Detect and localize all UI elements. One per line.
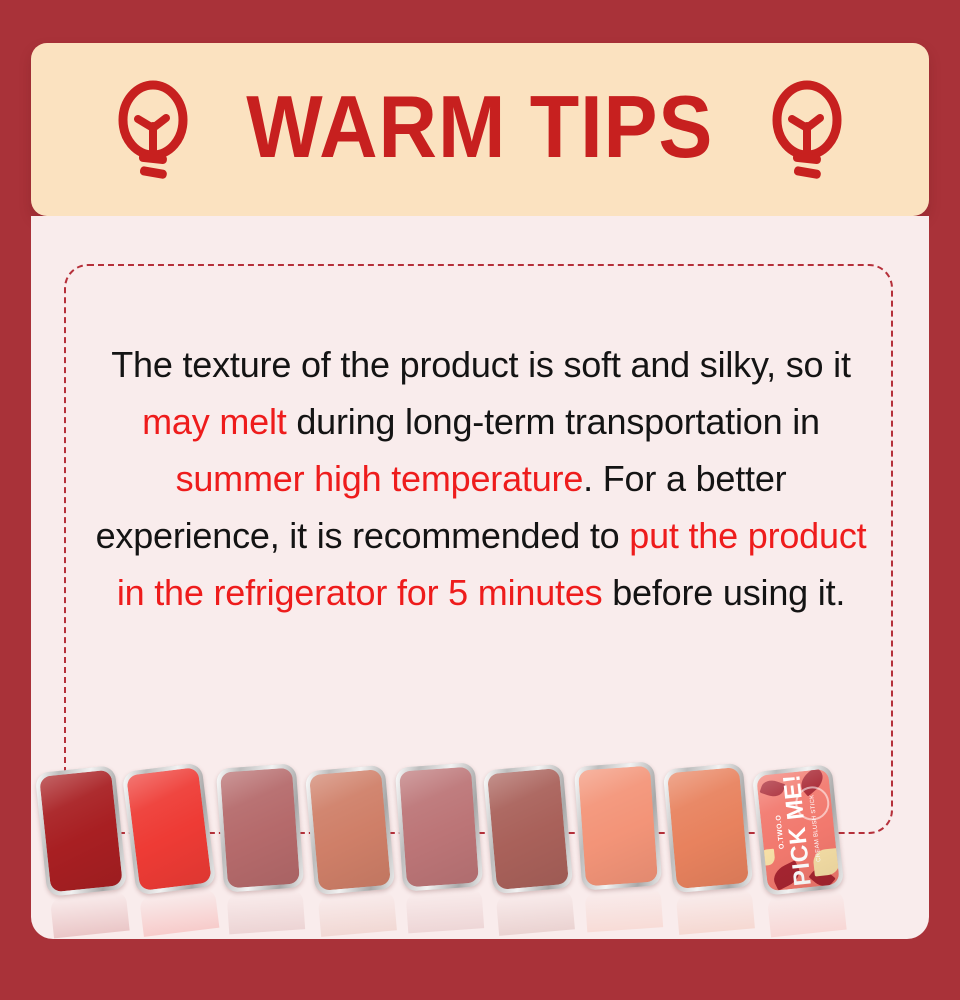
tip-highlight: summer high temperature (176, 458, 584, 499)
shade-swatch-row: O.TWO.OPICK ME!CREAM BLUSH STICK (31, 761, 929, 939)
swatch-shade-8[interactable] (663, 763, 754, 894)
pan-product (220, 768, 300, 889)
page-title: WARM TIPS (246, 83, 713, 177)
lightbulb-icon-right (770, 78, 844, 182)
tip-highlight: may melt (142, 401, 286, 442)
pan-product (126, 767, 212, 891)
pan-sheen (309, 769, 391, 891)
pan-sheen (220, 768, 300, 889)
pan-reflection (406, 888, 485, 933)
swatch-shade-2[interactable] (122, 763, 217, 896)
warm-tips-banner: WARM TIPS The texture of the product is … (0, 0, 960, 1000)
pan-reflection (767, 890, 847, 938)
pan-product (487, 768, 569, 890)
swatch-shade-7[interactable] (574, 761, 662, 890)
swatch-shade-3[interactable] (216, 763, 304, 892)
swatch-shade-1[interactable] (35, 765, 128, 897)
pan-sheen (399, 767, 479, 888)
pan-reflection (50, 891, 130, 939)
pan-case (395, 762, 483, 891)
pan-sheen (756, 769, 840, 892)
swatch-shade-5[interactable] (395, 762, 483, 891)
header-card: WARM TIPS (31, 43, 929, 216)
swatch-shade-9-pick-me[interactable]: O.TWO.OPICK ME!CREAM BLUSH STICK (752, 764, 845, 896)
pan-reflection (139, 888, 219, 937)
pan-case (216, 763, 304, 892)
tip-plain: before using it. (602, 572, 845, 613)
pan-case (35, 765, 128, 897)
pan-reflection (496, 889, 575, 935)
pan-product (399, 767, 479, 888)
pan-product (39, 770, 123, 893)
content-panel: The texture of the product is soft and s… (31, 216, 929, 939)
pan-sheen (667, 767, 749, 889)
pan-sheen (39, 770, 123, 893)
pan-case (663, 763, 754, 894)
tip-plain: The texture of the product is soft and s… (111, 344, 851, 385)
tip-plain: during long-term transportation in (287, 401, 820, 442)
tip-text: The texture of the product is soft and s… (91, 336, 871, 621)
pan-case (305, 765, 396, 896)
pan-sheen (487, 768, 569, 890)
pan-case (483, 764, 574, 895)
swatch-shade-4[interactable] (305, 765, 396, 896)
pan-sheen (126, 767, 212, 891)
pan-product: O.TWO.OPICK ME!CREAM BLUSH STICK (756, 769, 840, 892)
pan-product (309, 769, 391, 891)
pan-reflection (318, 890, 397, 936)
pan-reflection (676, 888, 755, 934)
pan-case (574, 761, 662, 890)
pan-sheen (578, 766, 658, 887)
lightbulb-icon-left (116, 78, 190, 182)
pan-product (667, 767, 749, 889)
pan-case: O.TWO.OPICK ME!CREAM BLUSH STICK (752, 764, 845, 896)
swatch-shade-6[interactable] (483, 764, 574, 895)
pan-reflection (227, 889, 306, 934)
pan-reflection (585, 887, 664, 932)
pan-case (122, 763, 217, 896)
pan-product (578, 766, 658, 887)
